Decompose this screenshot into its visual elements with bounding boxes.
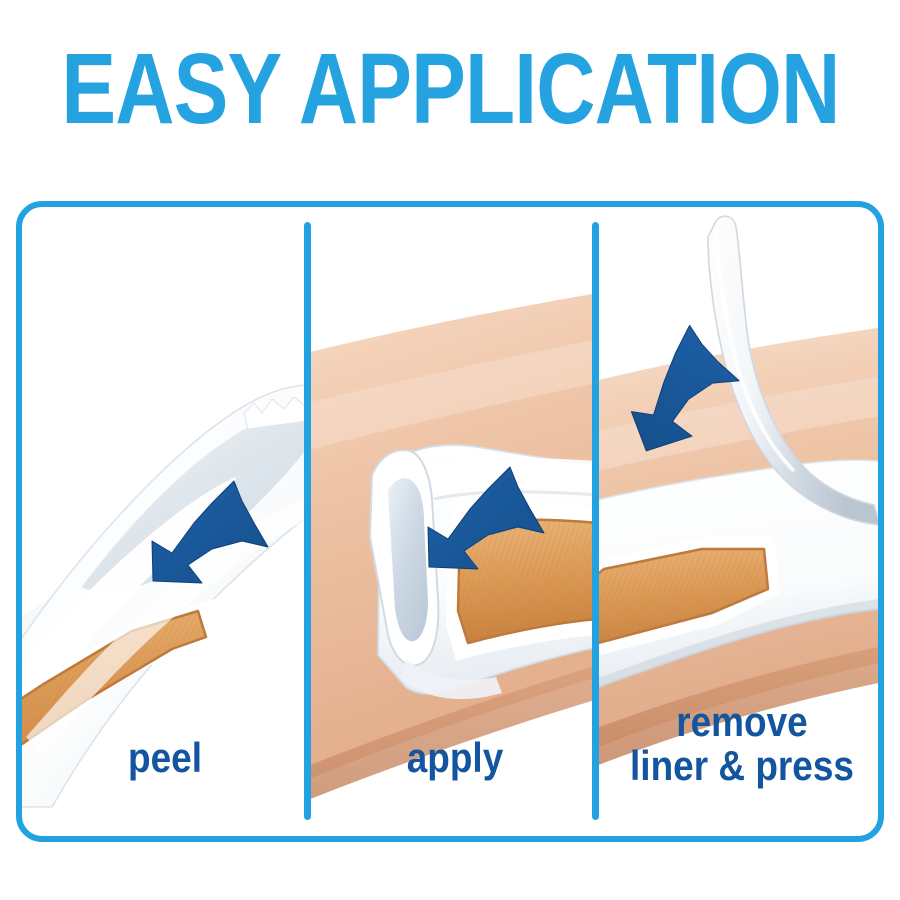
panel-divider-1	[304, 222, 311, 820]
page-title-text: EASY APPLICATION	[61, 39, 839, 139]
panel-caption-apply: apply	[345, 736, 565, 780]
panel-caption-peel: peel	[55, 736, 275, 780]
page-title: EASY APPLICATION	[0, 34, 900, 144]
panel-divider-2	[592, 222, 599, 820]
panel-caption-remove-liner-line1: remove	[628, 700, 857, 744]
panel-caption-remove-liner-line2: liner & press	[628, 744, 857, 788]
panel-caption-remove-liner: remove liner & press	[628, 700, 857, 788]
easy-application-infographic: EASY APPLICATION	[0, 0, 900, 900]
